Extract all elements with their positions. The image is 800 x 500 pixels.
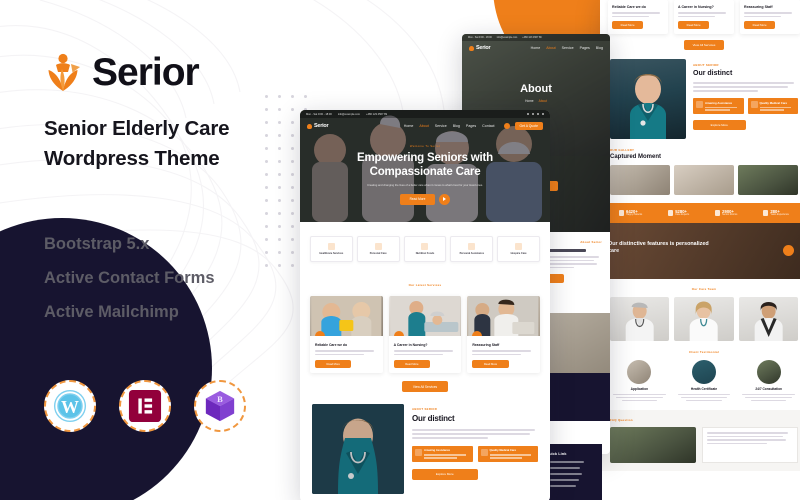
mockup-nav-menu[interactable]: Home About Service Blog Pages Contact (404, 124, 495, 128)
nav-item-blog[interactable]: Blog (596, 46, 603, 50)
footer-link[interactable] (546, 461, 596, 463)
experience-icon (763, 210, 768, 216)
hero-read-more-button[interactable]: Read More (400, 194, 436, 205)
card-title: A Career in Nursing? (678, 5, 730, 9)
topbar-hours: Mon - Sat 9:00 - 18:00 (468, 36, 492, 39)
nav-item-about[interactable]: About (546, 46, 555, 50)
home-hero: Mon - Sat 9:00 - 18:00 info@example.com … (300, 110, 550, 222)
testimonial-name: 24/7 Consultation (739, 387, 798, 391)
stat-item: 2900+ Senior Rooms (715, 210, 737, 217)
nav-item-pages[interactable]: Pages (580, 46, 590, 50)
list-item[interactable]: Health Certificate (675, 360, 734, 401)
serior-leaf-person-logo-icon (307, 124, 312, 129)
testimonial-tag: Client Testimonial (610, 350, 798, 354)
tech-badges: W B (44, 380, 246, 432)
headline-line-2: Wordpress Theme (44, 144, 229, 174)
card-photo (310, 296, 383, 336)
wordpress-icon: W (52, 388, 88, 424)
team-photo (610, 297, 669, 341)
stat-label: Happy Patients (626, 214, 642, 217)
card-title: Reliable Care we do (315, 343, 378, 347)
team-photo (674, 297, 733, 341)
medical-care-icon (481, 449, 488, 456)
card-photo (389, 296, 462, 336)
feature-item-bootstrap: Bootstrap 5.x (44, 228, 215, 262)
section-tag: ABOUT SERIOR (693, 63, 798, 67)
hero-eyebrow: Welcome To Serior (322, 144, 528, 148)
nav-item-home[interactable]: Home (404, 124, 414, 128)
patients-icon (619, 210, 624, 216)
card-title: Reassuring Staff (472, 343, 535, 347)
testimonial-name: Health Certificate (675, 387, 734, 391)
explore-more-button[interactable]: Explore More (693, 120, 746, 130)
linkedin-icon[interactable] (542, 113, 545, 116)
brand-name: Serior (92, 53, 199, 92)
feature-box[interactable]: Amazing Assistance (412, 446, 473, 462)
nav-item-blog[interactable]: Blog (453, 124, 460, 128)
feature-item-contact-forms: Active Contact Forms (44, 262, 215, 296)
list-item[interactable]: Reassuring Staff Read More (467, 296, 540, 373)
stat-label: Years Experience (770, 214, 789, 217)
feature-box[interactable]: Amazing Assistance (693, 98, 744, 114)
card-badge-icon (315, 331, 325, 336)
mockup-home-page[interactable]: Mon - Sat 9:00 - 18:00 info@example.com … (300, 110, 550, 500)
personal-care-icon (375, 243, 382, 250)
gallery-tag: OUR GALLERY (610, 148, 798, 152)
serior-leaf-person-logo-icon (469, 46, 474, 51)
mockup-logo-text: Serior (314, 123, 328, 129)
hero-title: Empowering Seniors with Compassionate Ca… (322, 151, 528, 180)
nav-item-service[interactable]: Service (435, 124, 447, 128)
feature-box[interactable]: Quality Medical Care (478, 446, 539, 462)
topbar-phone: +480 123 4567 89 (366, 113, 387, 116)
footer-link[interactable] (546, 467, 596, 469)
medical-icon (751, 101, 758, 108)
brand-lockup: Serior (44, 52, 199, 92)
service-label: Nutrition Foods (416, 252, 435, 255)
stats-band: 6420+ Happy Patients 5280+ Care Experts … (600, 203, 800, 223)
card-title: Reassuring Staff (744, 5, 796, 9)
svg-text:W: W (61, 397, 79, 417)
play-button-icon[interactable] (783, 245, 794, 256)
mockup-logo[interactable]: Serior (307, 123, 328, 129)
page-headline: Senior Elderly Care Wordpress Theme (44, 114, 229, 173)
elementor-badge[interactable] (119, 380, 171, 432)
elementor-icon (127, 388, 163, 424)
list-item[interactable]: Reliable Care we do Read More (310, 296, 383, 373)
list-item[interactable]: Reliable Care we do Read More (608, 0, 668, 34)
feature-title: Amazing Assistance (705, 101, 741, 105)
search-icon[interactable] (504, 123, 510, 129)
stat-label: Senior Rooms (722, 214, 737, 217)
get-a-quote-button[interactable]: Get A Quote (515, 122, 543, 130)
serior-leaf-person-logo-icon (44, 52, 82, 92)
feature-item-mailchimp: Active Mailchimp (44, 296, 215, 330)
headline-line-1: Senior Elderly Care (44, 114, 229, 144)
section-tag: ABOUT SERIOR (412, 407, 538, 411)
hospice-icon (515, 243, 522, 250)
service-card-nutrition-foods[interactable]: Nutrition Foods (404, 236, 447, 262)
read-more-button[interactable]: Read More (472, 360, 508, 368)
card-title: Reliable Care we do (612, 5, 664, 9)
read-more-button[interactable]: Read More (612, 21, 643, 29)
twitter-icon[interactable] (532, 113, 535, 116)
read-more-button[interactable]: Read More (394, 360, 430, 368)
nav-item-contact[interactable]: Contact (482, 124, 494, 128)
read-more-button[interactable]: Read More (315, 360, 351, 368)
service-card-healthcare-services[interactable]: Healthcare Services (310, 236, 353, 262)
banner-photo: Our distinctive features is personalized… (600, 223, 800, 279)
service-card-personal-care[interactable]: Personal Care (357, 236, 400, 262)
assistance-icon (468, 243, 475, 250)
list-item[interactable]: A Career in Nursing? Read More (389, 296, 462, 373)
nav-item-home[interactable]: Home (531, 46, 541, 50)
mockup-logo-text: Serior (476, 45, 490, 51)
avatar (757, 360, 781, 384)
mockup-right-long-page[interactable]: Reliable Care we do Read More A Career i… (600, 0, 800, 500)
team-photo (739, 297, 798, 341)
topbar-email: info@example.com (497, 36, 518, 39)
experts-icon (668, 210, 673, 216)
card-title: A Career in Nursing? (394, 343, 457, 347)
nav-item-service[interactable]: Service (562, 46, 574, 50)
read-more-button[interactable]: Read More (744, 21, 775, 29)
breadcrumb-home[interactable]: Home (525, 99, 534, 103)
avatar (692, 360, 716, 384)
rooms-icon (715, 210, 720, 216)
view-all-services-button[interactable]: View All Services (684, 40, 725, 50)
feature-title: Quality Medical Care (490, 449, 536, 452)
list-item[interactable]: Reassuring Staff Read More (740, 0, 800, 34)
topbar-phone: +480 123 4567 89 (522, 36, 541, 39)
service-label: Hospice Care (511, 252, 527, 255)
gallery-photo (674, 165, 734, 195)
about-page-title: About (462, 83, 610, 95)
faq-tag: FAQ Question (610, 418, 798, 422)
testimonial-name: Application (610, 387, 669, 391)
list-item[interactable]: 24/7 Consultation (739, 360, 798, 401)
service-card-personal-assistance[interactable]: Personal Assistance (450, 236, 493, 262)
card-badge-icon (394, 331, 404, 336)
stat-label: Care Experts (675, 214, 689, 217)
section-title: Our distinct (412, 414, 538, 423)
list-item[interactable]: A Career in Nursing? Read More (674, 0, 734, 34)
banner-title: Our distinctive features is personalized… (608, 241, 718, 256)
nav-item-pages[interactable]: Pages (466, 124, 476, 128)
mockup-nav-menu[interactable]: Home About Service Pages Blog (531, 46, 603, 50)
nurse-photo (610, 59, 686, 139)
faq-photo (610, 427, 696, 463)
list-item[interactable]: Application (610, 360, 669, 401)
service-label: Personal Assistance (460, 252, 484, 255)
footer-link[interactable] (546, 473, 596, 475)
explore-more-button[interactable]: Explore More (412, 469, 478, 480)
service-card-hospice-care[interactable]: Hospice Care (497, 236, 540, 262)
svg-text:B: B (217, 394, 223, 404)
card-photo (467, 296, 540, 336)
shield-icon (696, 101, 703, 108)
team-tag: Our Care Team (610, 287, 798, 291)
feature-title: Quality Medical Care (760, 101, 796, 105)
bootstrap-badge[interactable]: B (194, 380, 246, 432)
footer-link[interactable] (546, 479, 596, 481)
feature-list: Bootstrap 5.x Active Contact Forms Activ… (44, 228, 215, 329)
breadcrumb-about: About (539, 99, 547, 103)
topbar-hours: Mon - Sat 9:00 - 18:00 (306, 113, 332, 116)
footer-link[interactable] (546, 485, 596, 487)
footer-heading: Quick Link (546, 451, 596, 456)
instagram-icon[interactable] (537, 113, 540, 116)
nav-item-about[interactable]: About (419, 124, 428, 128)
hero-subtitle: Creating and changing the lives of a bet… (322, 184, 528, 188)
mockup-logo[interactable]: Serior (469, 45, 490, 51)
service-cards: Healthcare Services Personal Care Nutrit… (300, 222, 550, 262)
read-more-button[interactable]: Read More (678, 21, 709, 29)
service-label: Personal Care (370, 252, 387, 255)
gallery-title: Captured Moment (610, 154, 798, 160)
feature-title: Amazing Assistance (424, 449, 470, 452)
avatar (627, 360, 651, 384)
service-label: Healthcare Services (320, 252, 344, 255)
bootstrap-icon: B (202, 388, 238, 424)
wordpress-badge[interactable]: W (44, 380, 96, 432)
poster-canvas: Serior Senior Elderly Care Wordpress The… (0, 0, 800, 500)
stat-item: 6420+ Happy Patients (619, 210, 642, 217)
topbar-email: info@example.com (338, 113, 360, 116)
facebook-icon[interactable] (527, 113, 530, 116)
section-title: Our distinct (693, 70, 798, 77)
nutrition-icon (421, 243, 428, 250)
play-button-icon[interactable] (439, 194, 450, 205)
feature-box[interactable]: Quality Medical Care (748, 98, 799, 114)
stat-item: 5280+ Care Experts (668, 210, 689, 217)
gallery-photo (738, 165, 798, 195)
view-all-services-button[interactable]: View All Services (402, 381, 448, 392)
healthcare-icon (328, 243, 335, 250)
assistance-icon (415, 449, 422, 456)
social-icons[interactable] (527, 113, 545, 116)
nurse-photo (312, 404, 404, 494)
stat-item: 280+ Years Experience (763, 210, 789, 217)
gallery-photo (610, 165, 670, 195)
news-section-tag: Our Latest Services (409, 283, 442, 287)
